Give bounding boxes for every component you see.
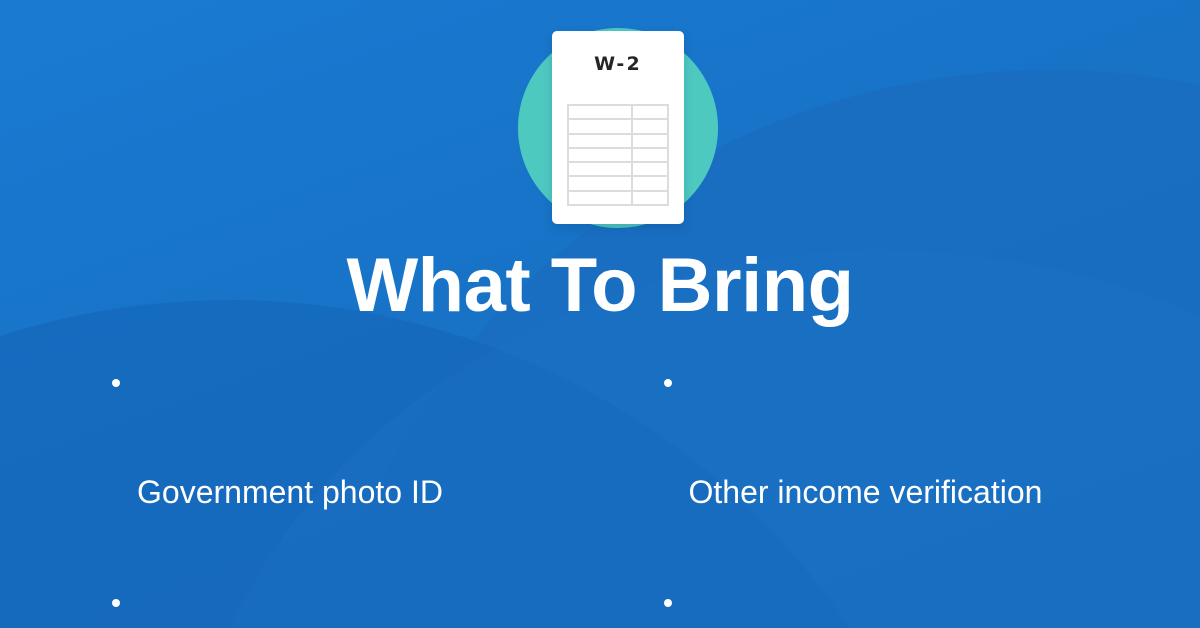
banner-content: W-2: [0, 0, 1200, 628]
table-row: [569, 120, 667, 132]
table-cell: [633, 192, 667, 204]
list-item: Government photo ID: [95, 355, 619, 575]
w2-document-icon: W-2: [552, 31, 684, 224]
table-row: [569, 135, 667, 147]
table-cell: [633, 120, 667, 132]
page-title: What To Bring: [0, 238, 1200, 334]
table-cell: [633, 106, 667, 118]
list-item-label: Other income verification: [689, 465, 1171, 520]
w2-document-label: W-2: [552, 53, 684, 75]
bring-list-left: Government photo ID Social Security card…: [95, 355, 619, 628]
table-cell: [569, 177, 631, 189]
table-row: [569, 106, 667, 118]
table-row: [569, 177, 667, 189]
bullet-icon: [664, 599, 672, 607]
list-item: Childcare expenses: [647, 575, 1171, 628]
table-cell: [569, 149, 631, 161]
list-item: Social Security cards (you, spouse, depe…: [95, 575, 619, 628]
bring-list-right: Other income verification Childcare expe…: [647, 355, 1171, 628]
table-cell: [569, 120, 631, 132]
table-cell: [633, 149, 667, 161]
table-cell: [569, 135, 631, 147]
bring-list-right-column: Other income verification Childcare expe…: [619, 355, 1171, 628]
bullet-icon: [112, 599, 120, 607]
table-row: [569, 192, 667, 204]
what-to-bring-banner: W-2: [0, 0, 1200, 628]
table-cell: [569, 192, 631, 204]
table-cell: [569, 163, 631, 175]
w2-table-grid: [567, 104, 669, 206]
table-row: [569, 163, 667, 175]
bring-lists: Government photo ID Social Security card…: [0, 355, 1200, 628]
table-row: [569, 149, 667, 161]
bring-list-left-column: Government photo ID Social Security card…: [95, 355, 619, 628]
list-item-label: Government photo ID: [137, 465, 619, 520]
bullet-icon: [112, 379, 120, 387]
table-cell: [633, 135, 667, 147]
table-cell: [633, 177, 667, 189]
table-cell: [633, 163, 667, 175]
list-item: Other income verification: [647, 355, 1171, 575]
bullet-icon: [664, 379, 672, 387]
icon-area: W-2: [0, 0, 1200, 236]
table-cell: [569, 106, 631, 118]
